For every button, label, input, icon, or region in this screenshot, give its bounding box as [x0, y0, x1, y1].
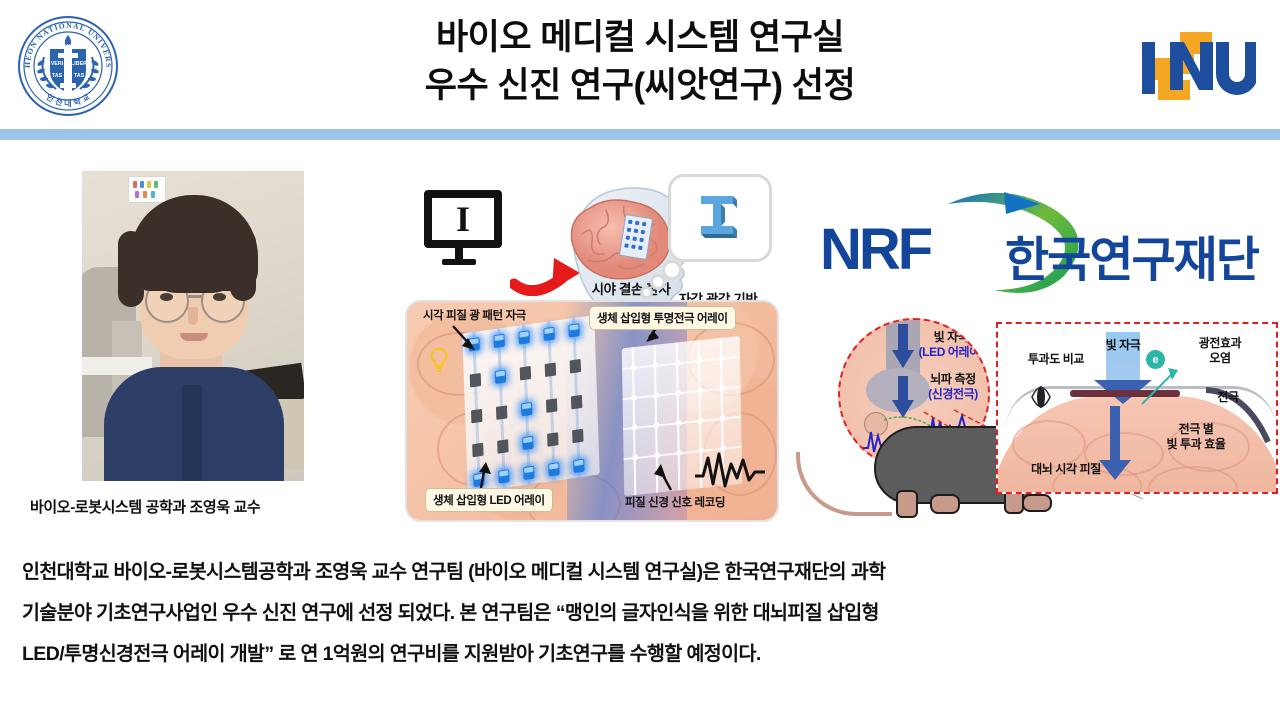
light-stim-text: 빛 자극 — [916, 330, 986, 345]
header-divider — [0, 129, 1280, 140]
transmittance-label: 투과도 비교 — [1008, 352, 1104, 367]
monitor-letter: I — [424, 190, 502, 248]
light-stim-sub-text: (LED 어레이) — [916, 345, 986, 360]
page-title: 바이오 메디컬 시스템 연구실 우수 신진 연구(씨앗연구) 선정 — [330, 14, 950, 110]
electron-arrow-icon — [1138, 366, 1182, 408]
efficiency-line2: 빛 투과 효율 — [1144, 437, 1248, 452]
nrf-acronym: NRF — [820, 216, 930, 283]
eeg-text: 뇌파 측정 — [918, 372, 988, 387]
neural-signal-icon — [695, 450, 765, 490]
slide-header: INCHEON NATIONAL UNIVERSITY 인 천 대 학 교 — [0, 0, 1280, 129]
photoelectric-line2: 오염 — [1174, 351, 1266, 366]
concept-figure: I — [400, 168, 780, 522]
announcement-paragraph: 인천대학교 바이오-로봇시스템공학과 조영욱 교수 연구팀 (바이오 메디컬 시… — [22, 552, 1272, 675]
pointer-arrow-icon — [653, 462, 679, 492]
lightbulb-icon — [429, 348, 449, 374]
recording-label: 피질 신경 신호 레코딩 — [625, 494, 725, 510]
professor-photo — [82, 171, 304, 481]
university-seal-icon: INCHEON NATIONAL UNIVERSITY 인 천 대 학 교 — [12, 13, 124, 119]
electrode-label: 전극 — [1206, 390, 1250, 405]
svg-text:TAS: TAS — [74, 73, 85, 79]
title-line-1: 바이오 메디컬 시스템 연구실 — [330, 14, 950, 62]
photo-caption: 바이오-로봇시스템 공학과 조영욱 교수 — [30, 496, 360, 517]
paragraph-line-2: 기술분야 기초연구사업인 우수 신진 연구에 선정 되었다. 본 연구팀은 “맹… — [22, 593, 1272, 634]
inu-logo-icon — [1128, 28, 1256, 104]
efficiency-label: 전극 별 빛 투과 효율 — [1144, 422, 1248, 452]
pointer-arrow-icon — [471, 460, 493, 490]
pointer-arrow-icon — [451, 324, 477, 352]
nrf-korean-name: 한국연구재단 — [1005, 220, 1258, 290]
down-arrow-icon — [892, 324, 914, 370]
animal-experiment-figure: 빛 자극 (LED 어레이) 뇌파 측정 (신경전극) — [820, 316, 1275, 526]
paragraph-line-3: LED/투명신경전극 어레이 개발” 로 연 1억원의 연구비를 지원받아 기초… — [22, 634, 1272, 675]
slide-root: INCHEON NATIONAL UNIVERSITY 인 천 대 학 교 — [0, 0, 1280, 720]
thought-bubble-letter — [668, 174, 766, 256]
stimulation-label: 시각 피질 광 패턴 자극 — [423, 307, 526, 323]
electrode-transmittance-panel: e 투과도 비교 빛 자극 광전효과 오염 전극 전극 별 빛 투과 효율 대뇌… — [996, 322, 1278, 494]
svg-text:인 천 대 학 교: 인 천 대 학 교 — [45, 92, 92, 108]
visual-cortex-label: 대뇌 시각 피질 — [1014, 462, 1118, 477]
eye-icon — [1028, 376, 1054, 418]
led-array-label: 생체 삽입형 LED 어레이 — [425, 488, 553, 512]
svg-text:LIBER: LIBER — [71, 61, 87, 67]
svg-text:VERI: VERI — [51, 61, 64, 67]
photoelectric-line1: 광전효과 — [1174, 336, 1266, 351]
light-stim-inset-label: 빛 자극 (LED 어레이) — [916, 330, 986, 360]
photoelectric-label: 광전효과 오염 — [1174, 336, 1266, 366]
title-line-2: 우수 신진 연구(씨앗연구) 선정 — [330, 62, 950, 110]
light-stim-panel-label: 빛 자극 — [1090, 338, 1156, 353]
svg-text:TAS: TAS — [52, 73, 63, 79]
efficiency-line1: 전극 별 — [1144, 422, 1248, 437]
brain-icon — [562, 194, 678, 286]
nrf-logo: NRF 한국연구재단 — [820, 190, 1270, 300]
cortex-implant-panel: 시각 피질 광 패턴 자극 생체 삽입형 투명전극 어레이 생체 삽입형 LED… — [405, 300, 779, 522]
transparent-array-label: 생체 삽입형 투명전극 어레이 — [589, 306, 736, 330]
poster-decor — [128, 176, 166, 203]
paragraph-line-1: 인천대학교 바이오-로봇시스템공학과 조영욱 교수 연구팀 (바이오 메디컬 시… — [22, 552, 1272, 593]
